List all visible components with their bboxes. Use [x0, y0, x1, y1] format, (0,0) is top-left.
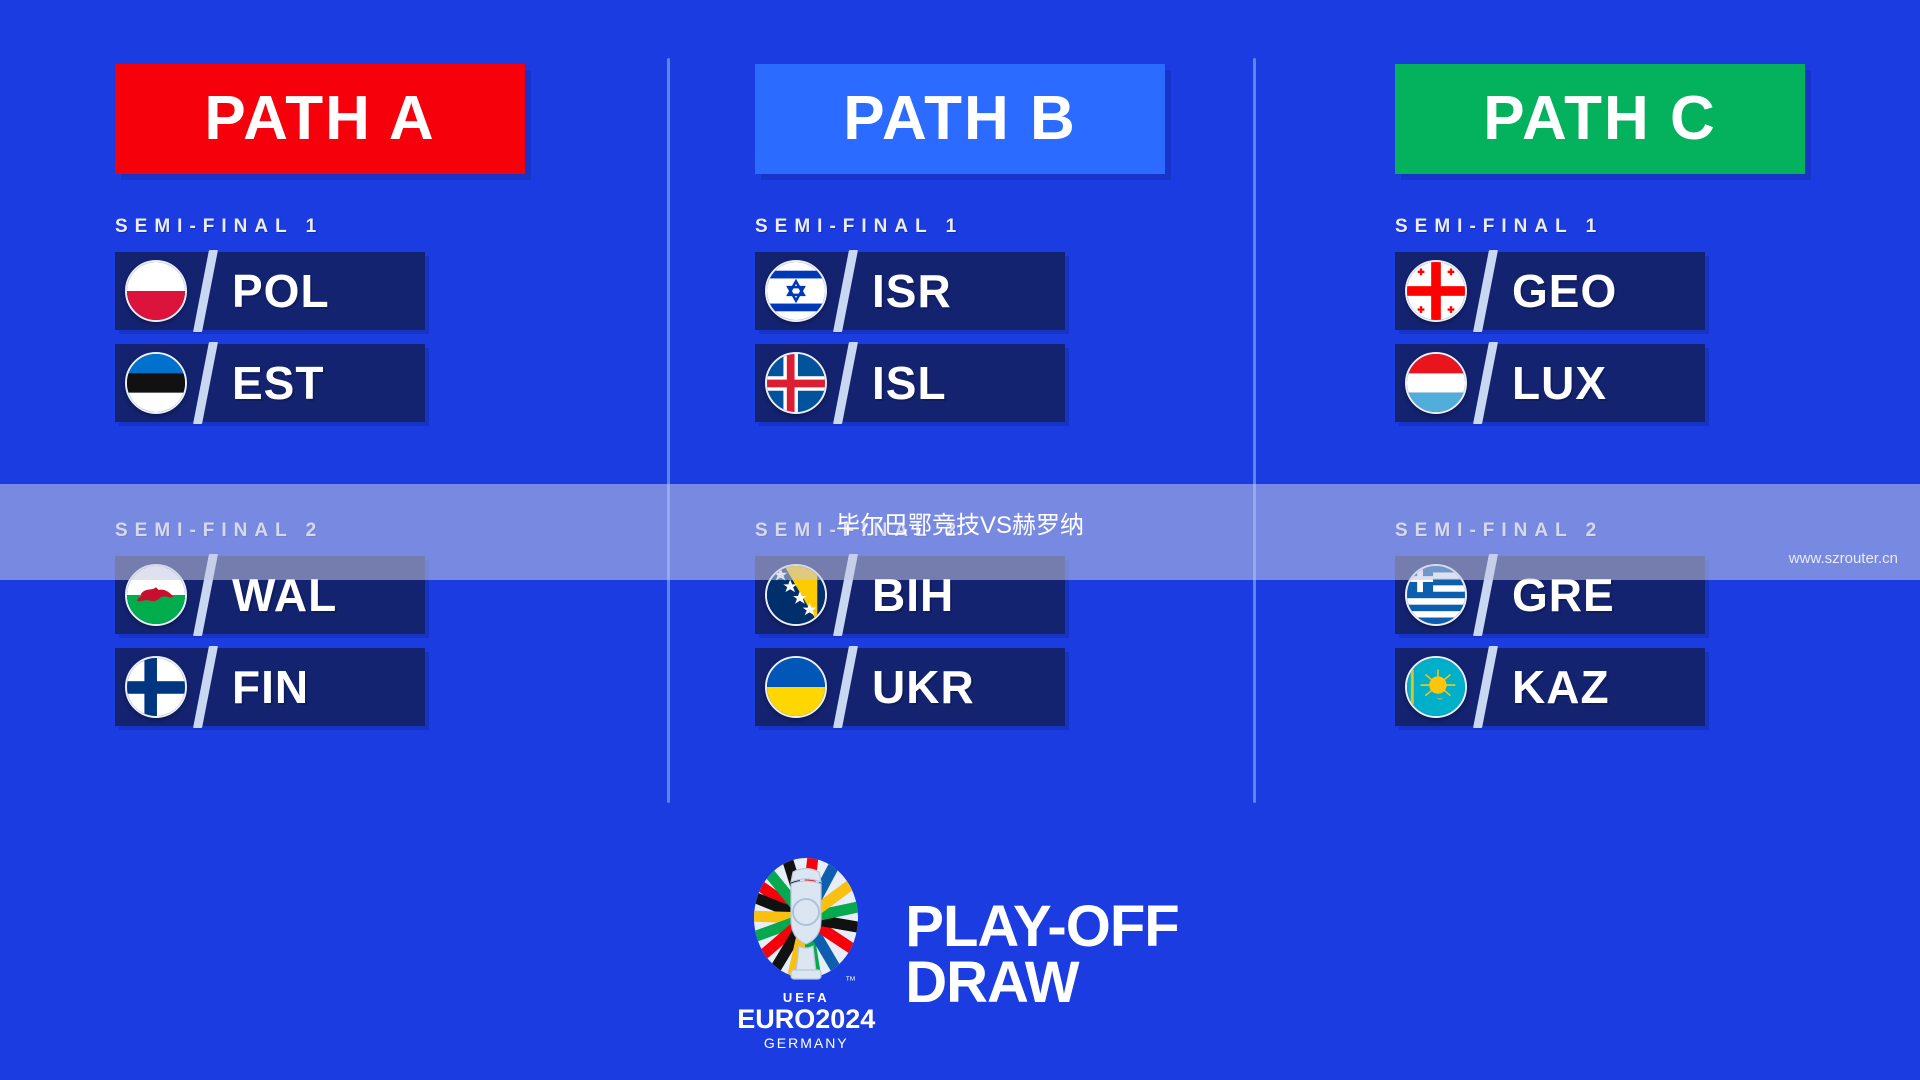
- bosnia-herzegovina-flag: [765, 564, 827, 626]
- team-code: FIN: [232, 664, 309, 710]
- team-row[interactable]: BIH: [755, 556, 1065, 634]
- path-title-a: PATH A: [204, 88, 435, 150]
- slash-divider: [193, 554, 218, 636]
- semifinal-block-c1: SEMI-FINAL 1: [1395, 174, 1805, 436]
- path-title-b: PATH B: [843, 88, 1077, 150]
- svg-text:™: ™: [845, 975, 856, 987]
- team-row[interactable]: ISL: [755, 344, 1065, 422]
- euro-2024-logo: ™ UEFA EURO2024 GERMANY: [741, 856, 871, 1054]
- semifinal-label-c1: SEMI-FINAL 1: [1395, 216, 1603, 238]
- wales-flag: [125, 564, 187, 626]
- team-row[interactable]: POL: [115, 252, 425, 330]
- semifinal-block-b1: SEMI-FINAL 1 ISR: [755, 174, 1165, 436]
- team-code: POL: [232, 268, 330, 314]
- euro-2024-playoff-draw-graphic: PATH A SEMI-FINAL 1 POL EST: [0, 0, 1920, 1080]
- team-row[interactable]: KAZ: [1395, 648, 1705, 726]
- team-row[interactable]: EST: [115, 344, 425, 422]
- team-code: UKR: [872, 664, 975, 710]
- team-code: LUX: [1512, 360, 1607, 406]
- playoff-draw-title: PLAY-OFF DRAW: [905, 899, 1178, 1010]
- path-title-c: PATH C: [1483, 88, 1717, 150]
- semifinal-label-a1: SEMI-FINAL 1: [115, 216, 323, 238]
- team-row[interactable]: GRE: [1395, 556, 1705, 634]
- team-code: WAL: [232, 572, 337, 618]
- semifinal-label-b1: SEMI-FINAL 1: [755, 216, 963, 238]
- semifinal-block-a1: SEMI-FINAL 1 POL EST: [115, 174, 525, 436]
- overlay-caption: 毕尔巴鄂竞技VS赫罗纳: [836, 505, 1084, 540]
- georgia-flag: [1405, 260, 1467, 322]
- team-row[interactable]: LUX: [1395, 344, 1705, 422]
- uefa-wordmark: UEFA: [783, 990, 830, 1005]
- team-row[interactable]: WAL: [115, 556, 425, 634]
- title-line-2: DRAW: [905, 955, 1178, 1011]
- kazakhstan-flag: [1405, 656, 1467, 718]
- overlay-watermark: www.szrouter.cn: [1789, 550, 1898, 567]
- path-column-a: PATH A SEMI-FINAL 1 POL EST: [0, 0, 640, 830]
- team-row[interactable]: GEO: [1395, 252, 1705, 330]
- germany-wordmark: GERMANY: [764, 1033, 849, 1054]
- israel-flag: [765, 260, 827, 322]
- ukraine-flag: [765, 656, 827, 718]
- slash-divider: [833, 554, 858, 636]
- slash-divider: [833, 342, 858, 424]
- slash-divider: [833, 250, 858, 332]
- team-code: ISR: [872, 268, 952, 314]
- team-row[interactable]: FIN: [115, 648, 425, 726]
- footer: ™ UEFA EURO2024 GERMANY PLAY-OFF DRAW: [0, 856, 1920, 1054]
- finland-flag: [125, 656, 187, 718]
- path-banner-c: PATH C: [1395, 64, 1805, 174]
- estonia-flag: [125, 352, 187, 414]
- semifinal-block-a2: SEMI-FINAL 2 WAL F: [115, 478, 525, 740]
- semifinal-label-a2: SEMI-FINAL 2: [115, 520, 323, 542]
- slash-divider: [1473, 250, 1498, 332]
- team-row[interactable]: UKR: [755, 648, 1065, 726]
- semifinal-label-c2: SEMI-FINAL 2: [1395, 520, 1603, 542]
- slash-divider: [1473, 554, 1498, 636]
- slash-divider: [1473, 342, 1498, 424]
- team-code: EST: [232, 360, 324, 406]
- slash-divider: [193, 646, 218, 728]
- paths-container: PATH A SEMI-FINAL 1 POL EST: [0, 0, 1920, 830]
- slash-divider: [193, 342, 218, 424]
- luxembourg-flag: [1405, 352, 1467, 414]
- slash-divider: [193, 250, 218, 332]
- team-code: ISL: [872, 360, 947, 406]
- team-row[interactable]: ISR: [755, 252, 1065, 330]
- path-banner-a: PATH A: [115, 64, 525, 174]
- iceland-flag: [765, 352, 827, 414]
- title-line-1: PLAY-OFF: [905, 899, 1178, 955]
- team-code: BIH: [872, 572, 954, 618]
- greece-flag: [1405, 564, 1467, 626]
- slash-divider: [1473, 646, 1498, 728]
- team-code: GRE: [1512, 572, 1615, 618]
- path-column-b: PATH B SEMI-FINAL 1 ISR: [640, 0, 1280, 830]
- team-code: KAZ: [1512, 664, 1610, 710]
- team-code: GEO: [1512, 268, 1617, 314]
- slash-divider: [833, 646, 858, 728]
- path-banner-b: PATH B: [755, 64, 1165, 174]
- euro-2024-wordmark: EURO2024: [737, 1005, 875, 1033]
- semifinal-block-c2: SEMI-FINAL 2: [1395, 478, 1805, 740]
- poland-flag: [125, 260, 187, 322]
- path-column-c: PATH C SEMI-FINAL 1: [1280, 0, 1920, 830]
- euro-trophy-icon: ™: [747, 856, 865, 992]
